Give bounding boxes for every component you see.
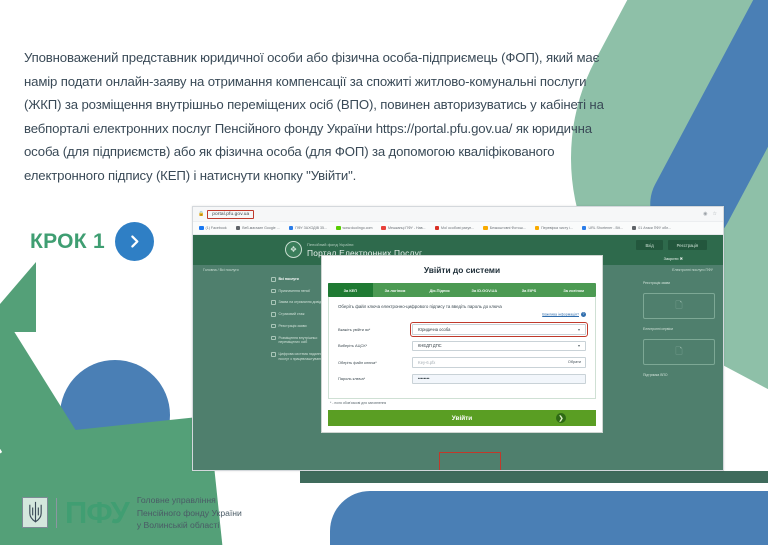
- entity-type-select[interactable]: Юридична особа ▾: [412, 324, 586, 335]
- document-icon: [271, 352, 276, 357]
- field-row-entity-type: Вкажіть увійти як* Юридична особа ▾: [338, 324, 586, 335]
- bookmark-label: Мої особові рахун...: [441, 226, 474, 230]
- bookmark-favicon: [336, 226, 341, 231]
- bookmark-favicon: [381, 226, 386, 231]
- bookmark-favicon: [535, 226, 540, 231]
- right-panel-label: Реєстрація заяви: [643, 281, 715, 285]
- bookmark-label: Перевірка чисту і...: [541, 226, 573, 230]
- portal-close-label: Закрити: [664, 256, 679, 261]
- arrow-right-circle-icon: ❯: [556, 413, 566, 423]
- lock-icon: 🔒: [198, 211, 204, 217]
- field-row-key-file: Оберіть файл ключа* Key-6.pfx Обрати: [338, 357, 586, 368]
- pfu-logo: ПФУ: [65, 500, 129, 526]
- portal-right-panel: Реєстрація заяви 🗋 Електронні сервіси 🗋 …: [643, 281, 715, 377]
- key-password-value: ••••••••: [418, 376, 429, 381]
- tab-login[interactable]: За логіном: [373, 283, 418, 297]
- close-icon: ✖: [680, 256, 683, 261]
- list-icon: [271, 289, 276, 294]
- submit-highlight-box: [439, 452, 501, 471]
- sidebar-item-label: Призначення пенсії: [279, 289, 311, 294]
- portal-register-button[interactable]: Реєстрація: [668, 240, 707, 250]
- portal-header-buttons: Вхід Реєстрація: [636, 240, 707, 250]
- ca-select[interactable]: КНЕДП ДПС ▾: [412, 341, 586, 352]
- modal-body: Оберіть файл ключа електронно-цифрового …: [328, 297, 596, 399]
- decoration-blue-circle: [60, 360, 170, 470]
- bookmark-item[interactable]: ПФУ ЗАХОДІВ 35...: [289, 226, 327, 231]
- step-badge: КРОК 1: [30, 222, 154, 261]
- modal-hint: Оберіть файл ключа електронно-цифрового …: [338, 304, 586, 309]
- document-icon: [271, 336, 276, 341]
- document-icon: 🗋: [675, 298, 682, 314]
- field-label: Виберіть АЦСК*: [338, 343, 412, 348]
- url-text[interactable]: portal.pfu.gov.ua: [207, 210, 254, 219]
- browser-address-bar[interactable]: 🔒 portal.pfu.gov.ua ◉ ☆: [193, 207, 723, 222]
- right-panel-card[interactable]: 🗋: [643, 293, 715, 319]
- modal-submit-row: Увійти ❯: [328, 410, 596, 426]
- ca-value: КНЕДП ДПС: [418, 343, 442, 348]
- modal-help-link-label: Важлива інформація?: [542, 312, 579, 316]
- login-submit-label: Увійти: [452, 415, 472, 422]
- footer-line-3: у Волинській області: [137, 519, 242, 531]
- bookmark-favicon: [632, 226, 637, 231]
- portal-organization: Пенсійний фонд України: [307, 242, 422, 247]
- coat-of-arms-icon: [22, 497, 48, 528]
- required-fields-note: * - поля обов'язкові для заповнення: [330, 401, 602, 405]
- body-paragraph: Уповноважений представник юридичної особ…: [24, 46, 612, 187]
- browser-toolbar-icons[interactable]: ◉ ☆: [703, 211, 717, 217]
- bookmark-label: 01 Атаки ПФУ обл...: [638, 226, 671, 230]
- bookmark-item[interactable]: Безкоштовні Фотош...: [483, 226, 525, 231]
- portal-close-button[interactable]: Закрити ✖: [664, 256, 683, 261]
- bookmark-favicon: [582, 226, 587, 231]
- list-icon: [271, 324, 276, 329]
- footer-line-1: Головне управління: [137, 494, 242, 506]
- portal-top-note: Електронні послуги ПФУ: [672, 268, 713, 272]
- right-panel-label: Електронні сервіси: [643, 327, 715, 331]
- bookmark-item[interactable]: Мешканці ПФУ - Нав...: [381, 226, 425, 231]
- bookmark-label: Мешканці ПФУ - Нав...: [388, 226, 426, 230]
- decoration-teal-bar: [300, 471, 768, 483]
- field-label: Оберіть файл ключа*: [338, 360, 412, 365]
- tab-diia-signature[interactable]: Дія.Підпис: [417, 283, 462, 297]
- browse-button[interactable]: Обрати: [568, 360, 581, 364]
- bookmark-item[interactable]: Перевірка чисту і...: [535, 226, 573, 231]
- breadcrumb[interactable]: Головна / Всі послуги: [203, 268, 239, 272]
- bookmark-label: www.duolingo.com: [343, 226, 373, 230]
- extensions-icon[interactable]: ◉: [703, 211, 707, 217]
- bookmarks-bar[interactable]: (1) Facebook Веб-магазин Google ... ПФУ …: [193, 222, 723, 235]
- right-panel-card[interactable]: 🗋: [643, 339, 715, 365]
- bookmark-item[interactable]: Мої особові рахун...: [435, 226, 475, 231]
- login-submit-button[interactable]: Увійти ❯: [328, 410, 596, 426]
- footer-divider: [56, 498, 57, 528]
- bookmark-item[interactable]: 01 Атаки ПФУ обл...: [632, 226, 671, 231]
- bookmark-favicon: [199, 226, 204, 231]
- modal-tabs: За КЕП За логіном Дія.Підпис За ID.GOV.U…: [328, 283, 596, 297]
- portal-login-button[interactable]: Вхід: [636, 240, 662, 250]
- bookmark-label: ПФУ ЗАХОДІВ 35...: [295, 226, 327, 230]
- bookmark-favicon: [289, 226, 294, 231]
- field-label: Пароль ключа*: [338, 376, 412, 381]
- sidebar-item-label: Страховий стаж: [279, 312, 305, 317]
- footer: ПФУ Головне управління Пенсійного фонду …: [22, 494, 242, 531]
- bookmark-item[interactable]: Веб-магазин Google ...: [236, 226, 280, 231]
- step-label: КРОК 1: [30, 230, 105, 254]
- list-icon: [271, 277, 276, 282]
- login-modal: Увійти до системи За КЕП За логіном Дія.…: [321, 255, 603, 433]
- bookmark-label: Веб-магазин Google ...: [242, 226, 280, 230]
- bookmark-item[interactable]: www.duolingo.com: [336, 226, 372, 231]
- chevron-down-icon: ▾: [578, 327, 580, 332]
- decoration-blue-bottom: [330, 491, 768, 545]
- step-arrow-button[interactable]: [115, 222, 154, 261]
- bookmark-favicon: [483, 226, 488, 231]
- sidebar-item-label: Реєстрація заяви: [279, 324, 307, 329]
- sidebar-item-label: Заява на отримання довідки: [279, 300, 325, 305]
- field-label: Вкажіть увійти як*: [338, 327, 412, 332]
- field-row-ca: Виберіть АЦСК* КНЕДП ДПС ▾: [338, 341, 586, 352]
- key-file-input[interactable]: Key-6.pfx Обрати: [412, 357, 586, 368]
- footer-text: Головне управління Пенсійного фонду Укра…: [137, 494, 242, 531]
- slide-root: Уповноважений представник юридичної особ…: [0, 0, 768, 545]
- tab-login-alt[interactable]: За логіном: [551, 283, 596, 297]
- portal-page: ❖ Пенсійний фонд України Портал Електрон…: [193, 235, 723, 471]
- key-file-value: Key-6.pfx: [418, 360, 435, 365]
- bookmark-favicon: [236, 226, 241, 231]
- list-icon: [271, 312, 276, 317]
- bookmark-label: Безкоштовні Фотош...: [490, 226, 526, 230]
- sidebar-item-label: Всі послуги: [279, 277, 299, 282]
- decoration-green-triangle: [0, 262, 36, 332]
- bookmark-item[interactable]: URL Shortener - Bit...: [582, 226, 623, 231]
- right-panel-label: Підтримка ВПО: [643, 373, 715, 377]
- chevron-down-icon: ▾: [578, 343, 580, 348]
- modal-help-link[interactable]: Важлива інформація??: [338, 312, 586, 317]
- bookmark-label: (1) Facebook: [206, 226, 227, 230]
- entity-type-value: Юридична особа: [418, 327, 450, 332]
- footer-line-2: Пенсійного фонду України: [137, 507, 242, 519]
- browser-screenshot: 🔒 portal.pfu.gov.ua ◉ ☆ (1) Facebook Веб…: [192, 206, 724, 471]
- field-row-password: Пароль ключа* ••••••••: [338, 374, 586, 385]
- bookmark-label: URL Shortener - Bit...: [588, 226, 622, 230]
- pfu-emblem-icon: ❖: [285, 241, 302, 258]
- bookmark-item[interactable]: (1) Facebook: [199, 226, 227, 231]
- bookmark-favicon: [435, 226, 440, 231]
- form-icon: 🗋: [675, 344, 682, 360]
- key-password-input[interactable]: ••••••••: [412, 374, 586, 385]
- tab-id-gov-ua[interactable]: За ID.GOV.UA: [462, 283, 507, 297]
- tab-eips[interactable]: За EIPS: [507, 283, 552, 297]
- chevron-right-icon: [126, 233, 143, 250]
- list-icon: [271, 300, 276, 305]
- bookmark-star-icon[interactable]: ☆: [713, 211, 717, 217]
- url-pill[interactable]: 🔒 portal.pfu.gov.ua: [198, 210, 254, 219]
- info-icon: ?: [581, 312, 586, 317]
- tab-kep[interactable]: За КЕП: [328, 283, 373, 297]
- tryzub-icon: [27, 501, 44, 524]
- modal-title: Увійти до системи: [322, 256, 602, 283]
